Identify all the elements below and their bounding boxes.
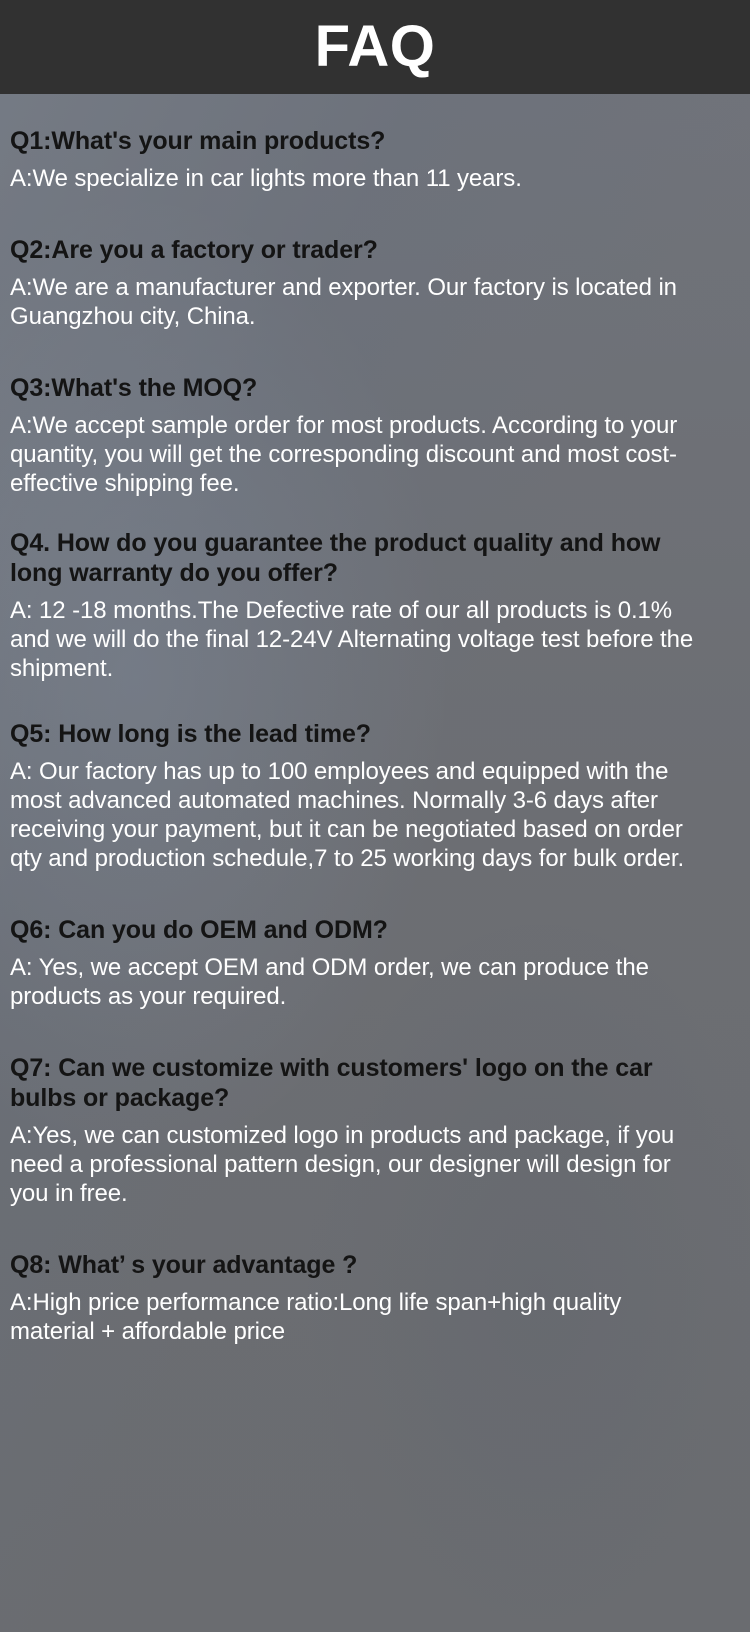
faq-item-4: Q4. How do you guarantee the product qua… xyxy=(10,528,710,683)
faq-answer-5: A: Our factory has up to 100 employees a… xyxy=(10,757,710,873)
faq-question-8: Q8: What’ s your advantage ? xyxy=(10,1250,710,1280)
faq-question-4: Q4. How do you guarantee the product qua… xyxy=(10,528,710,588)
faq-item-2: Q2:Are you a factory or trader? A:We are… xyxy=(10,235,710,331)
faq-page: FAQ xyxy=(0,0,750,1632)
faq-item-5: Q5: How long is the lead time? A: Our fa… xyxy=(10,719,710,873)
spacer xyxy=(10,1208,710,1250)
faq-answer-4: A: 12 -18 months.The Defective rate of o… xyxy=(10,596,710,683)
faq-item-6: Q6: Can you do OEM and ODM? A: Yes, we a… xyxy=(10,915,710,1011)
faq-question-3: Q3:What's the MOQ? xyxy=(10,373,710,403)
page-title: FAQ xyxy=(315,18,436,76)
faq-header: FAQ xyxy=(0,0,750,94)
faq-list: Q1:What's your main products? A:We speci… xyxy=(0,94,750,1346)
faq-question-1: Q1:What's your main products? xyxy=(10,126,710,156)
faq-question-5: Q5: How long is the lead time? xyxy=(10,719,710,749)
spacer xyxy=(10,498,710,528)
faq-item-8: Q8: What’ s your advantage ? A:High pric… xyxy=(10,1250,710,1346)
spacer xyxy=(10,873,710,915)
faq-item-3: Q3:What's the MOQ? A:We accept sample or… xyxy=(10,373,710,498)
faq-answer-3: A:We accept sample order for most produc… xyxy=(10,411,710,498)
faq-question-2: Q2:Are you a factory or trader? xyxy=(10,235,710,265)
faq-answer-6: A: Yes, we accept OEM and ODM order, we … xyxy=(10,953,710,1011)
faq-answer-8: A:High price performance ratio:Long life… xyxy=(10,1288,710,1346)
faq-item-7: Q7: Can we customize with customers' log… xyxy=(10,1053,710,1208)
faq-answer-1: A:We specialize in car lights more than … xyxy=(10,164,710,193)
faq-question-7: Q7: Can we customize with customers' log… xyxy=(10,1053,710,1113)
faq-item-1: Q1:What's your main products? A:We speci… xyxy=(10,126,710,193)
faq-answer-2: A:We are a manufacturer and exporter. Ou… xyxy=(10,273,710,331)
faq-question-6: Q6: Can you do OEM and ODM? xyxy=(10,915,710,945)
spacer xyxy=(10,331,710,373)
spacer xyxy=(10,683,710,719)
spacer xyxy=(10,1011,710,1053)
faq-answer-7: A:Yes, we can customized logo in product… xyxy=(10,1121,710,1208)
spacer xyxy=(10,193,710,235)
